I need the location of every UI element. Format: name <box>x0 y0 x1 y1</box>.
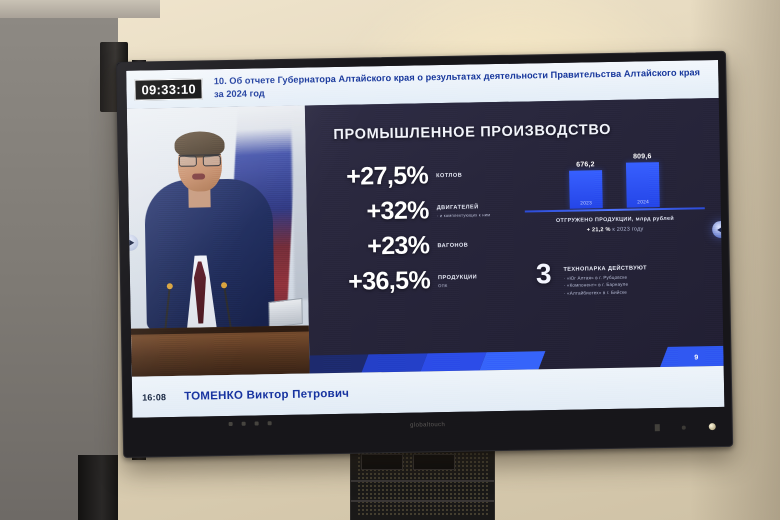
ceiling-trim <box>0 0 160 18</box>
stat-label-group: КОТЛОВ <box>436 170 462 180</box>
chart-annotation: + 21,2 % к 2023 году <box>525 225 705 234</box>
stat-sublabel: - и комплектующих к ним <box>437 212 491 218</box>
stat-value: +32% <box>321 196 430 227</box>
display-screen: 09:33:10 10. Об отчете Губернатора Алтай… <box>126 60 724 418</box>
timecode-display: 09:33:10 <box>134 78 203 100</box>
stat-value: +27,5% <box>320 161 429 192</box>
display-control-buttons[interactable] <box>229 421 272 426</box>
equipment-rack <box>350 444 495 520</box>
chart-growth-suffix: к 2023 году <box>611 226 644 233</box>
equipment-rack-side <box>78 455 118 520</box>
list-item: +36,5% ПРОДУКЦИИ ОПК <box>322 263 519 300</box>
rack-slot <box>361 454 403 470</box>
wooden-podium <box>131 326 310 377</box>
chart-title: ОТГРУЖЕНО ПРОДУКЦИИ, млрд рублей <box>525 215 705 224</box>
stat-label-group: ДВИГАТЕЛЕЙ - и комплектующих к ним <box>437 202 491 217</box>
list-item: · «Алтайбиотех» в г. Бийске <box>564 289 648 296</box>
stat-label: ПРОДУКЦИИ <box>438 275 477 282</box>
speaker-name: ТОМЕНКО Виктор Петрович <box>184 387 349 402</box>
agenda-item-title: 10. Об отчете Губернатора Алтайского кра… <box>214 66 711 101</box>
bezel-indicator <box>655 424 660 431</box>
list-item: +32% ДВИГАТЕЛЕЙ - и комплектующих к ним <box>320 193 517 230</box>
glasses-icon <box>179 154 221 164</box>
stat-label: ВАГОНОВ <box>437 242 468 249</box>
page-number: 9 <box>694 354 698 361</box>
footer-timestamp: 16:08 <box>142 392 166 402</box>
bar-category-label: 2024 <box>627 200 660 206</box>
stat-sublabel <box>438 250 469 251</box>
speaker-video-feed <box>127 106 310 377</box>
list-item: +27,5% КОТЛОВ <box>320 158 517 195</box>
power-led-icon[interactable] <box>709 423 716 430</box>
play-right-arrow-icon[interactable] <box>712 221 724 238</box>
list-item: · «Юг Алтая» в г. Рубцовске <box>564 274 648 281</box>
stat-label: ДВИГАТЕЛЕЙ <box>437 204 491 211</box>
shipped-products-bar-chart: 676,2 2023 809,6 2024 О <box>524 144 706 234</box>
rack-divider <box>351 480 494 482</box>
technoparks-block: 3 ТЕХНОПАРКА ДЕЙСТВУЮТ · «Юг Алтая» в г.… <box>536 259 648 296</box>
stat-value: +36,5% <box>322 266 431 297</box>
screen-body: ПРОМЫШЛЕННОЕ ПРОИЗВОДСТВО +27,5% КОТЛОВ … <box>127 98 724 377</box>
presentation-slide: ПРОМЫШЛЕННОЕ ПРОИЗВОДСТВО +27,5% КОТЛОВ … <box>305 98 724 374</box>
laptop-on-podium <box>268 298 302 328</box>
chart-plot-area: 676,2 2023 809,6 2024 <box>524 144 705 209</box>
technopark-count: 3 <box>536 261 552 286</box>
bar-value-label: 676,2 <box>576 161 595 168</box>
stat-sublabel: ОПК <box>438 282 477 288</box>
stat-label-group: ПРОДУКЦИИ ОПК <box>438 273 477 288</box>
stat-value: +23% <box>321 231 430 262</box>
interactive-display-panel: 09:33:10 10. Об отчете Губернатора Алтай… <box>116 51 733 458</box>
statistics-list: +27,5% КОТЛОВ +32% ДВИГАТЕЛЕЙ - и компле… <box>320 158 519 302</box>
technopark-text-group: ТЕХНОПАРКА ДЕЙСТВУЮТ · «Юг Алтая» в г. Р… <box>563 259 647 295</box>
page-title: ПРОМЫШЛЕННОЕ ПРОИЗВОДСТВО <box>333 122 611 143</box>
chart-growth-value: + 21,2 % <box>587 227 611 233</box>
technopark-heading: ТЕХНОПАРКА ДЕЙСТВУЮТ <box>563 265 647 273</box>
bar-2024: 2024 <box>626 162 660 208</box>
brand-logo: globaltouch <box>410 422 445 429</box>
bar-category-label: 2023 <box>570 201 603 207</box>
stat-label: КОТЛОВ <box>436 172 462 178</box>
bar-group-2023: 676,2 2023 <box>569 161 603 209</box>
bar-group-2024: 809,6 2024 <box>626 153 660 208</box>
rack-slot <box>413 454 455 470</box>
list-item: · «Компонент» в г. Барнауле <box>564 281 648 288</box>
bar-value-label: 809,6 <box>633 153 652 160</box>
bar-2023: 2023 <box>569 170 603 209</box>
speaker-mouth <box>192 173 205 179</box>
rack-divider <box>351 500 494 502</box>
bezel-indicator <box>682 426 686 430</box>
stat-label-group: ВАГОНОВ <box>437 240 468 250</box>
list-item: +23% ВАГОНОВ <box>321 228 518 265</box>
